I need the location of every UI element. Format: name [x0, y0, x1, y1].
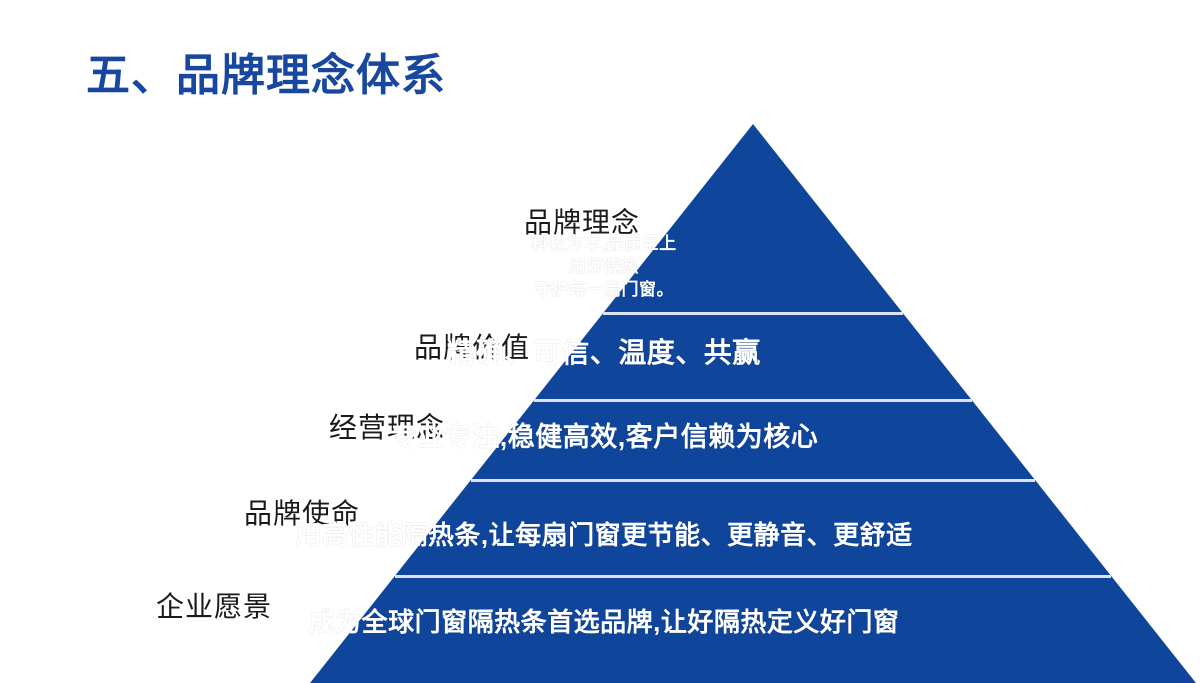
tier-text-line: 用好隔热 [4, 255, 1200, 278]
tier-text-brand-mission: 用高性能隔热条,让每扇门窗更节能、更静音、更舒适 [4, 519, 1200, 552]
tier-text-line: 守护每一扇门窗。 [4, 278, 1200, 301]
pyramid-body [310, 124, 1196, 683]
tier-text-brand-philosophy: 科技为本,品质至上 用好隔热 守护每一扇门窗。 [4, 232, 1200, 301]
tier-text-corporate-vision: 成为全球门窗隔热条首选品牌,让好隔热定义好门窗 [4, 606, 1200, 639]
tier-text-brand-value: 精确、可信、温度、共赢 [4, 336, 1200, 370]
tier-text-management-philosophy: 专业专注,稳健高效,客户信赖为核心 [4, 420, 1200, 454]
slide-canvas: 五、品牌理念体系 品牌理念 品牌价值 经营理念 品牌使命 企业愿景 科技为本,品… [0, 0, 1200, 683]
tier-text-line: 科技为本,品质至上 [4, 232, 1200, 255]
